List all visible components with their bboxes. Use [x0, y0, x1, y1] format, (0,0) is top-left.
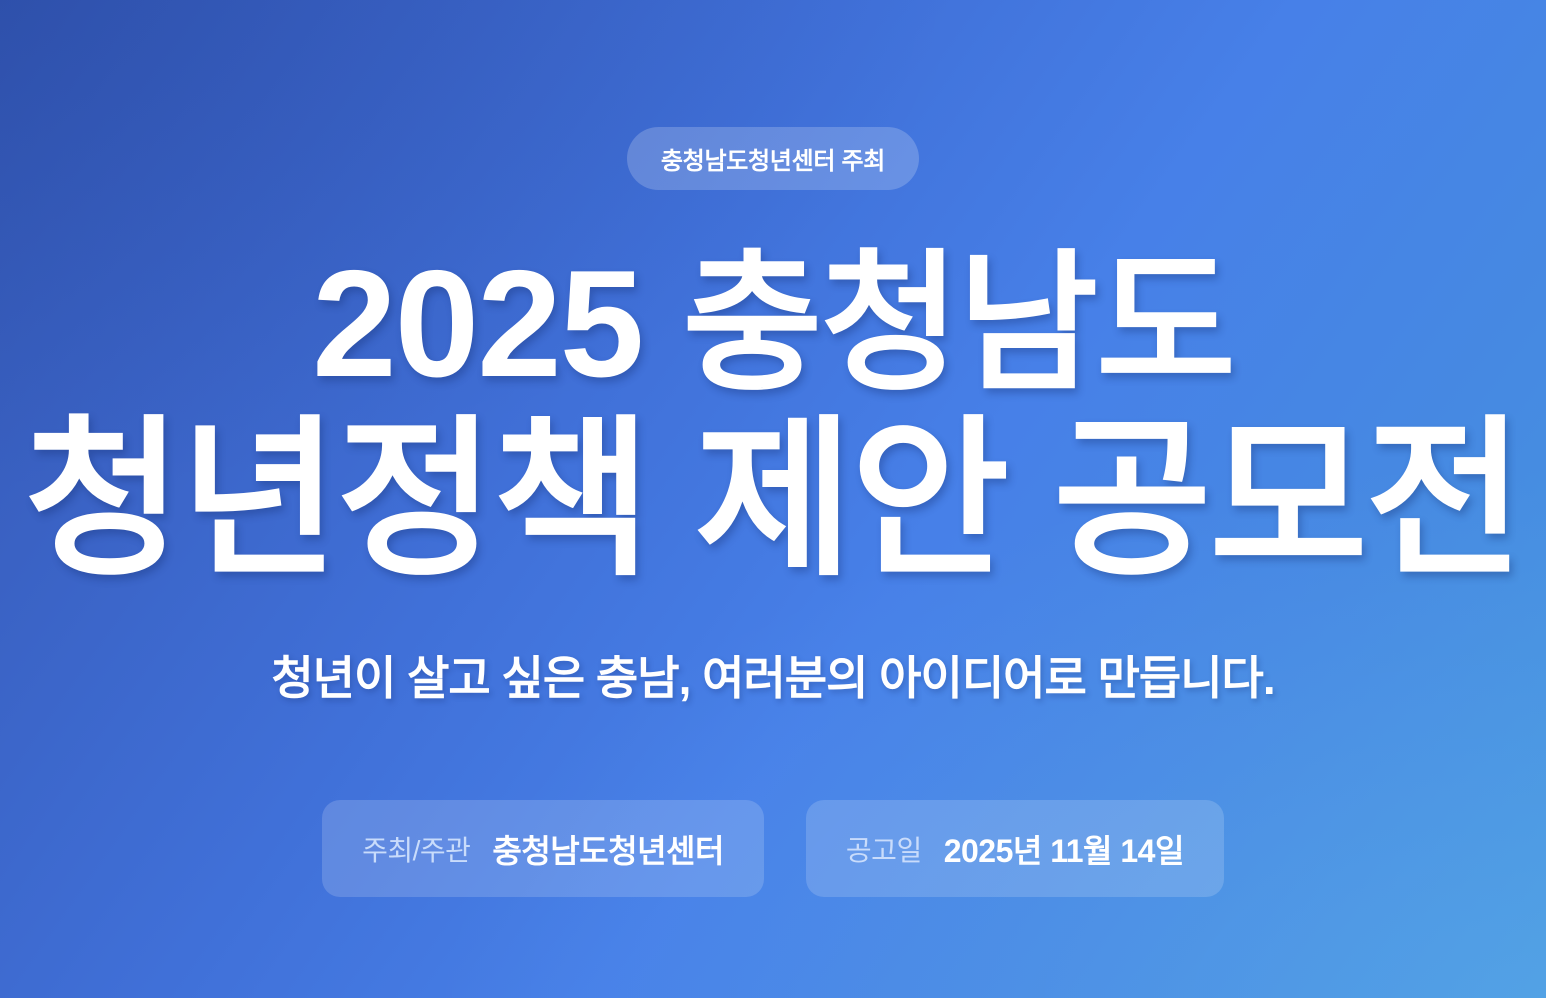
title-line-1: 2025 충청남도	[24, 248, 1522, 400]
info-chip-row: 주최/주관 충청남도청년센터 공고일 2025년 11월 14일	[322, 800, 1224, 897]
info-chip-notice-date: 공고일 2025년 11월 14일	[806, 800, 1224, 897]
host-badge: 충청남도청년센터 주최	[627, 127, 919, 190]
subtitle: 청년이 살고 싶은 충남, 여러분의 아이디어로 만듭니다.	[271, 642, 1274, 708]
info-chip-organizer: 주최/주관 충청남도청년센터	[322, 800, 764, 897]
notice-date-value: 2025년 11월 14일	[944, 826, 1184, 872]
notice-date-label: 공고일	[846, 829, 922, 869]
organizer-value: 충청남도청년센터	[492, 826, 724, 872]
promo-banner: 충청남도청년센터 주최 2025 충청남도 청년정책 제안 공모전 청년이 살고…	[0, 0, 1546, 998]
title-line-2: 청년정책 제안 공모전	[24, 414, 1522, 586]
organizer-label: 주최/주관	[362, 829, 470, 869]
page-title: 2025 충청남도 청년정책 제안 공모전	[24, 248, 1522, 586]
